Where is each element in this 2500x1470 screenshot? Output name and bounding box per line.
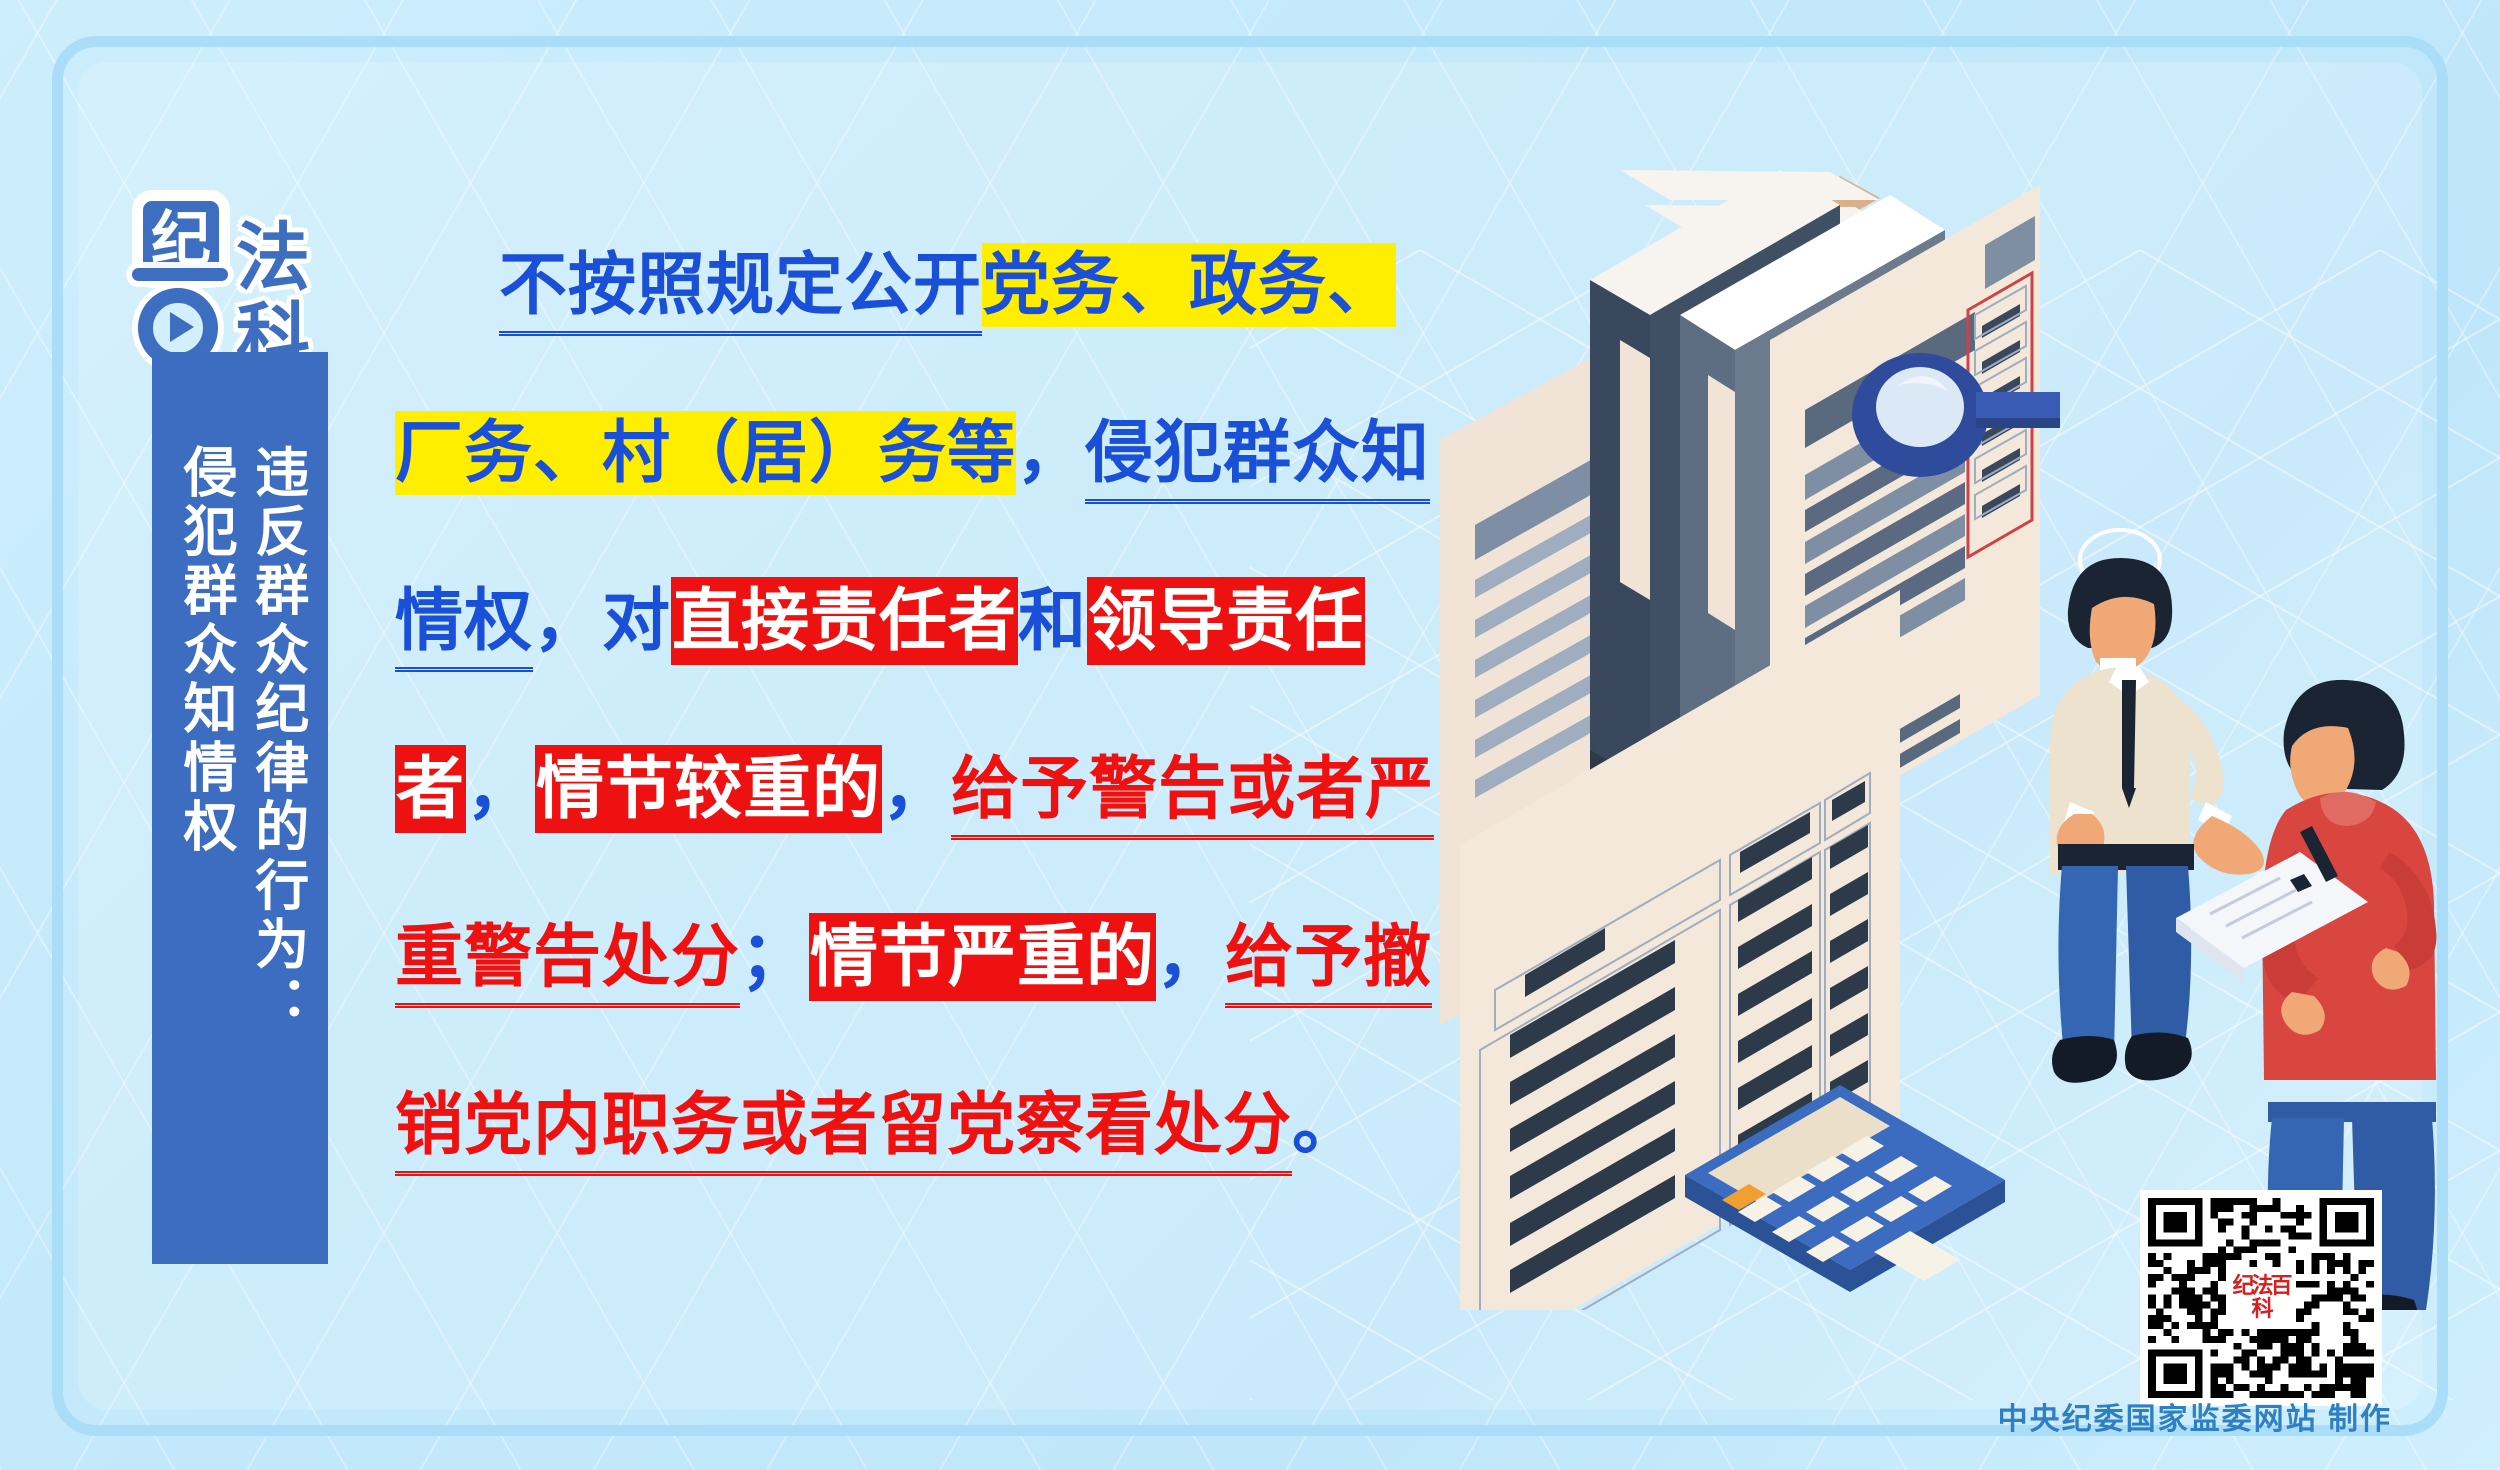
person-official (2050, 530, 2264, 1083)
text-segment: 给予警告或者严 (951, 747, 1434, 840)
text-segment: ，对 (533, 579, 671, 663)
text-segment: 直接责任者 (671, 577, 1018, 665)
text-segment: 销党内职务或者留党察看处分 (395, 1083, 1292, 1176)
text-segment: 领导责任 (1087, 577, 1365, 665)
text-segment: 党务、政务、 (982, 243, 1396, 327)
poster-root: 纪 法科 违反群众纪律的行为： 侵犯群众知情权 不按照规定公开党务、政务、厂务、… (0, 0, 2500, 1470)
text-line-2: 厂务、村（居）务等，侵犯群众知 (395, 398, 1445, 566)
text-segment: 者 (395, 745, 466, 833)
main-regulation-text: 不按照规定公开党务、政务、厂务、村（居）务等，侵犯群众知情权，对直接责任者和领导… (395, 230, 1445, 1238)
text-line-4: 者，情节较重的，给予警告或者严 (395, 734, 1445, 902)
text-segment: ， (1156, 915, 1225, 999)
brand-logo: 纪 法科 (128, 196, 358, 346)
footer-credit: 中央纪委国家监委网站 制作 (1998, 1394, 2392, 1438)
vertical-title-banner: 违反群众纪律的行为： 侵犯群众知情权 (152, 352, 328, 1264)
text-segment: 。 (1292, 1083, 1361, 1167)
banner-column-left: 侵犯群众知情权 (172, 444, 236, 857)
illustration-svg (1420, 110, 2480, 1310)
text-segment: ， (1016, 411, 1085, 495)
text-segment: 厂务、村（居）务等 (395, 411, 1016, 495)
text-segment: ； (740, 915, 809, 999)
text-line-1: 不按照规定公开党务、政务、 (395, 230, 1445, 398)
text-line-6: 销党内职务或者留党察看处分。 (395, 1070, 1445, 1238)
text-line-5: 重警告处分；情节严重的，给予撤 (395, 902, 1445, 1070)
text-segment: 和 (1018, 579, 1087, 663)
logo-bar (132, 268, 228, 281)
isometric-illustration (1420, 110, 2480, 1310)
text-line-3: 情权，对直接责任者和领导责任 (395, 566, 1445, 734)
text-segment: 给予撤 (1225, 915, 1432, 1008)
text-segment: 不按照规定公开 (499, 243, 982, 336)
text-segment: 重警告处分 (395, 915, 740, 1008)
text-segment: ， (466, 747, 535, 831)
text-segment: 侵犯群众知 (1085, 411, 1430, 504)
text-segment: ， (882, 747, 951, 831)
qr-code[interactable]: 纪法百科 (2140, 1190, 2382, 1406)
qr-center-logo: 纪法百科 (2231, 1274, 2291, 1322)
text-segment: 情节较重的 (535, 745, 882, 833)
play-triangle-icon (170, 312, 194, 342)
text-segment: 情权 (395, 579, 533, 672)
banner-column-right: 违反群众纪律的行为： (244, 444, 308, 1034)
text-segment: 情节严重的 (809, 913, 1156, 1001)
